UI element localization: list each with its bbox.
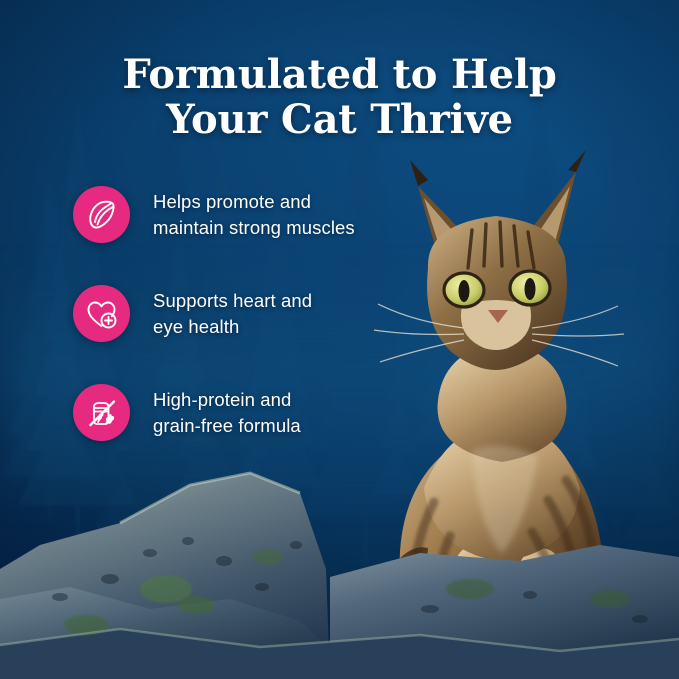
benefit-item-muscles: Helps promote and maintain strong muscle…	[73, 186, 403, 243]
benefit-list: Helps promote and maintain strong muscle…	[73, 186, 403, 483]
benefit-badge-heart-eye	[73, 285, 130, 342]
rocky-foreground	[0, 449, 679, 679]
cat-pupil-left	[459, 280, 470, 302]
cat-ear-tuft-right	[568, 150, 586, 172]
benefit-text-muscles: Helps promote and maintain strong muscle…	[153, 189, 355, 241]
no-grain-icon	[84, 395, 120, 431]
benefit-badge-muscles	[73, 186, 130, 243]
headline-line-1: Formulated to Help	[122, 51, 556, 98]
benefit-badge-grain-free	[73, 384, 130, 441]
muscle-icon	[84, 197, 120, 233]
headline-line-2: Your Cat Thrive	[0, 97, 679, 142]
cat-pupil-right	[525, 278, 536, 300]
heart-plus-icon	[84, 296, 120, 332]
benefit-text-grain-free: High-protein and grain-free formula	[153, 387, 301, 439]
page-title: Formulated to Help Your Cat Thrive	[0, 52, 679, 142]
benefit-item-grain-free: High-protein and grain-free formula	[73, 384, 403, 441]
benefit-text-heart-eye: Supports heart and eye health	[153, 288, 312, 340]
benefit-item-heart-eye: Supports heart and eye health	[73, 285, 403, 342]
rock-illustration	[0, 449, 679, 679]
marketing-banner: Formulated to Help Your Cat Thrive Helps…	[0, 0, 679, 679]
cat-ear-tuft-left	[410, 160, 428, 186]
